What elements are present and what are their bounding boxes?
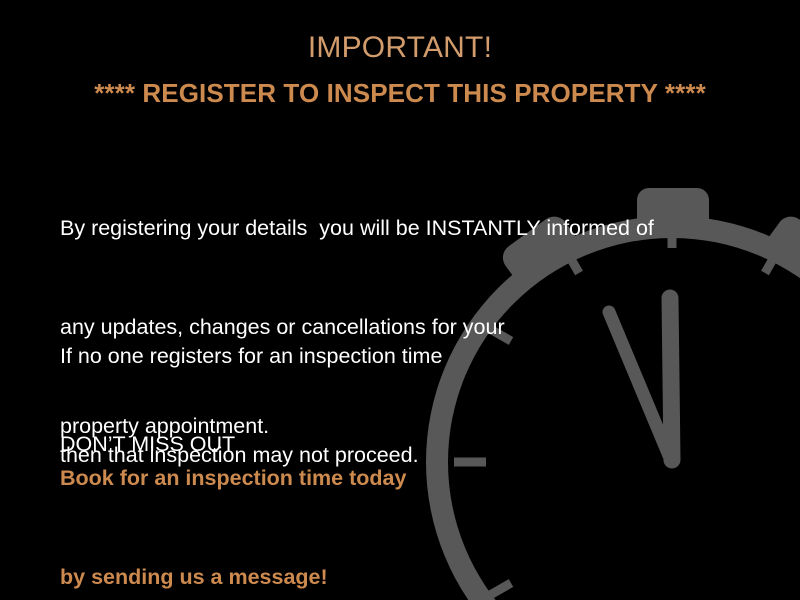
call-to-action-text: Book for an inspection time today by sen…: [60, 396, 406, 600]
text-layer: IMPORTANT! **** REGISTER TO INSPECT THIS…: [0, 0, 800, 600]
page-subtitle: **** REGISTER TO INSPECT THIS PROPERTY *…: [0, 76, 800, 110]
paragraph-registering-line-1: By registering your details you will be …: [60, 212, 654, 245]
call-to-action-line-2: by sending us a message!: [60, 561, 406, 594]
page-title: IMPORTANT!: [0, 30, 800, 66]
promotional-slide: IMPORTANT! **** REGISTER TO INSPECT THIS…: [0, 0, 800, 600]
call-to-action-line-1: Book for an inspection time today: [60, 462, 406, 495]
